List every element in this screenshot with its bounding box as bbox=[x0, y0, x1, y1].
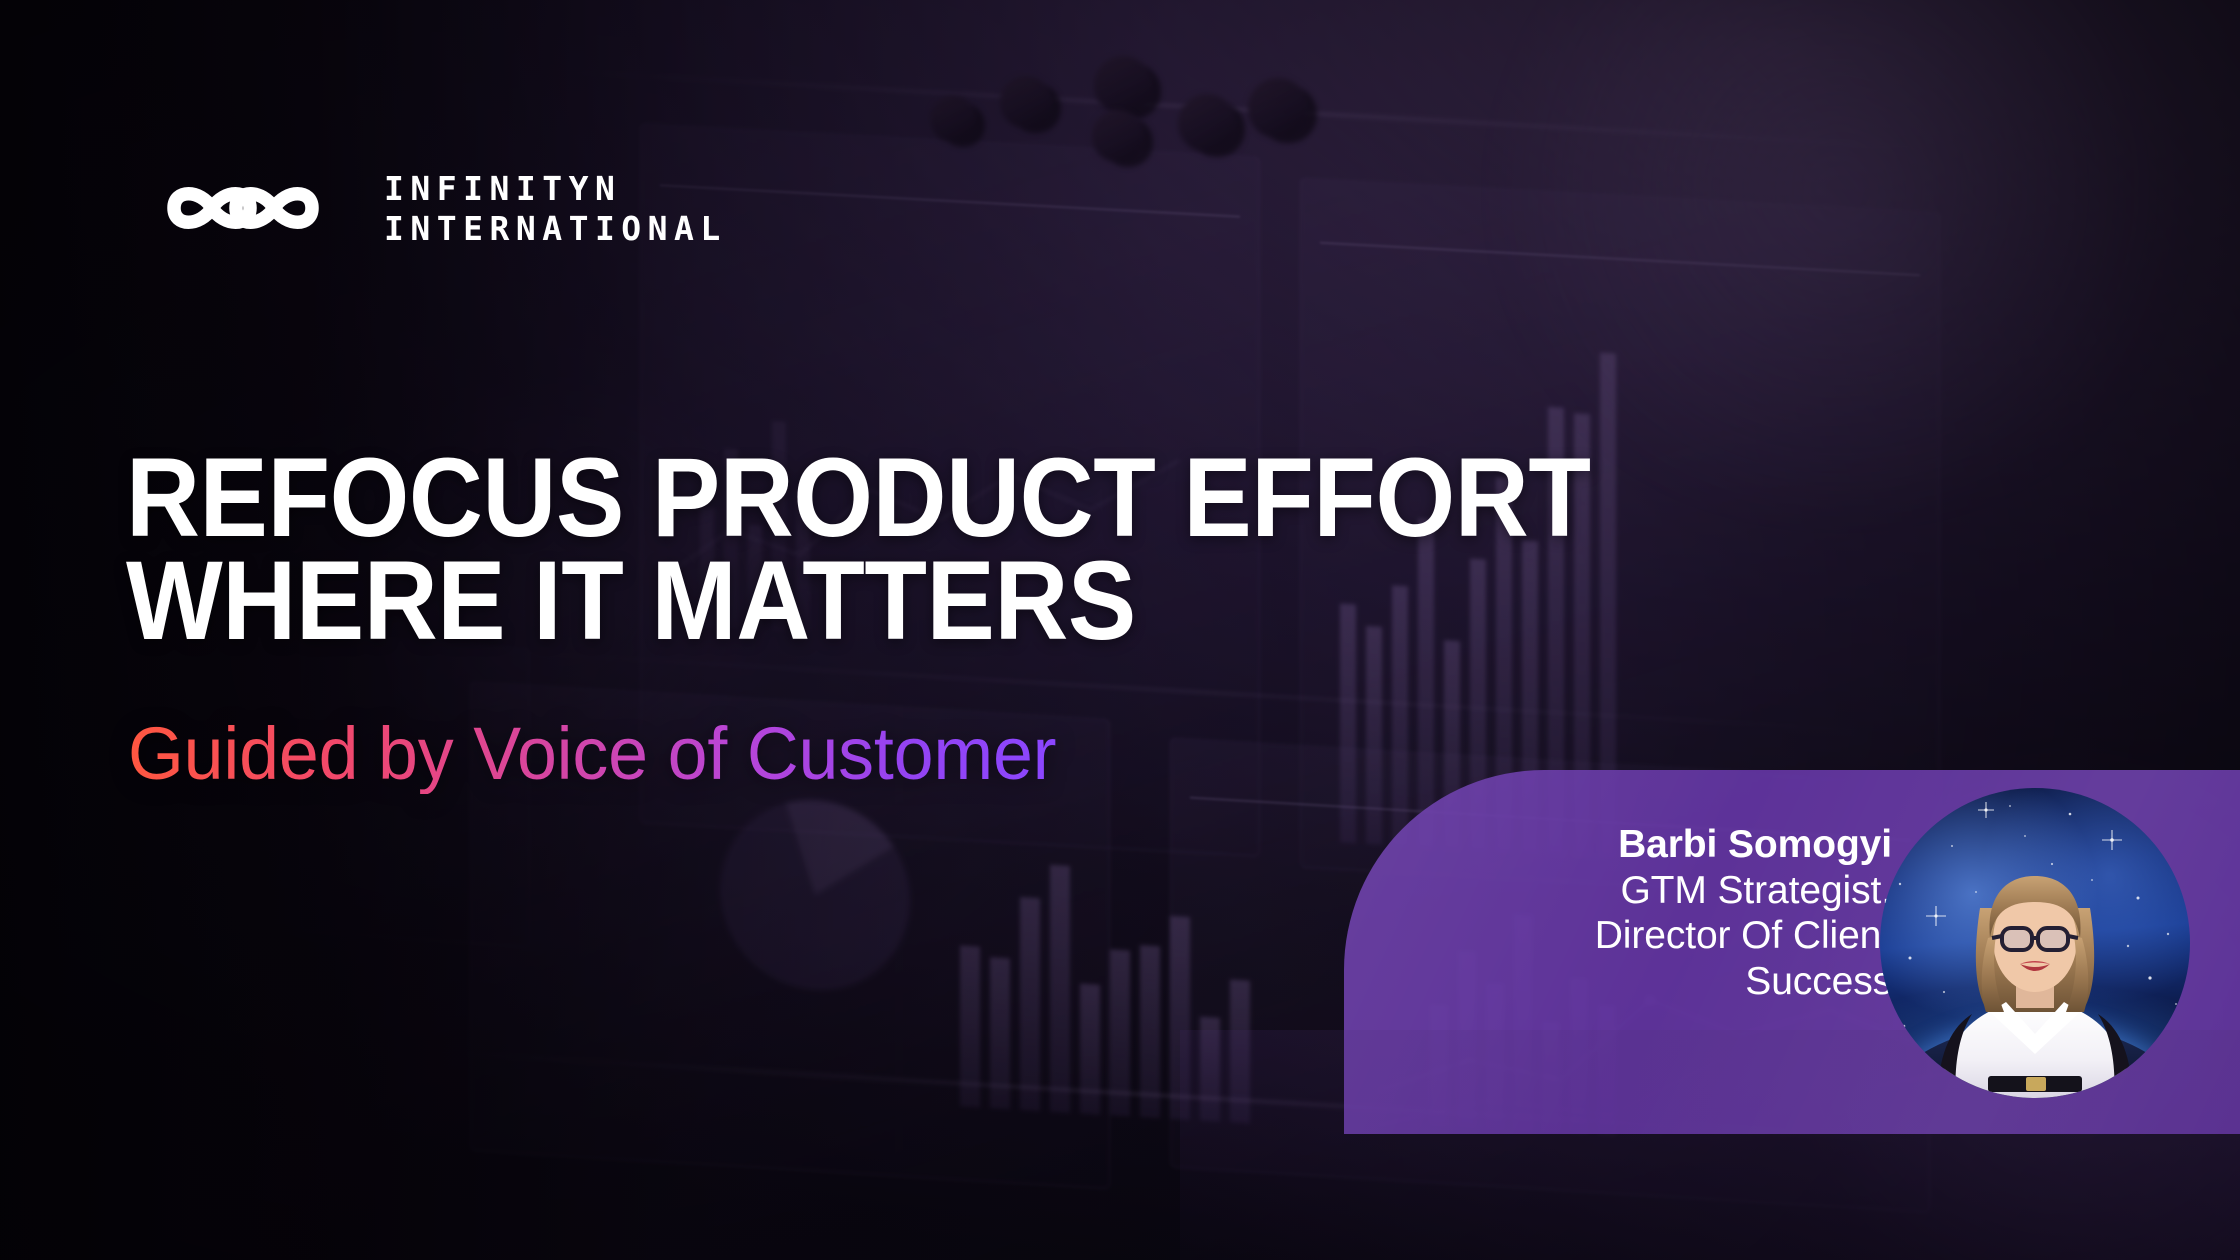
speaker-name: Barbi Somogyi bbox=[1344, 822, 1892, 868]
page-title: REFOCUS PRODUCT EFFORT WHERE IT MATTERS bbox=[126, 446, 1590, 652]
brand-logo[interactable]: INFINITYN INTERNATIONAL bbox=[138, 166, 727, 250]
speaker-role-line-2: Director Of Client bbox=[1344, 913, 1892, 959]
brand-wordmark: INFINITYN INTERNATIONAL bbox=[384, 172, 727, 245]
avatar bbox=[1880, 788, 2190, 1134]
speaker-role-line-1: GTM Strategist, bbox=[1344, 868, 1892, 914]
speaker-info: Barbi Somogyi GTM Strategist, Director O… bbox=[1344, 822, 1892, 1005]
speaker-role-line-3: Success bbox=[1344, 959, 1892, 1005]
infinity-loop-logo-icon bbox=[138, 166, 348, 250]
brand-name-line2: INTERNATIONAL bbox=[384, 212, 727, 245]
subtitle: Guided by Voice of Customer bbox=[128, 714, 1056, 794]
brand-name-line1: INFINITYN bbox=[384, 172, 727, 205]
avatar-circle bbox=[1880, 788, 2190, 1098]
presentation-slide: INFINITYN INTERNATIONAL REFOCUS PRODUCT … bbox=[0, 0, 2240, 1260]
headline-line-2: WHERE IT MATTERS bbox=[126, 549, 1590, 652]
avatar-portrait bbox=[1880, 788, 2190, 1098]
